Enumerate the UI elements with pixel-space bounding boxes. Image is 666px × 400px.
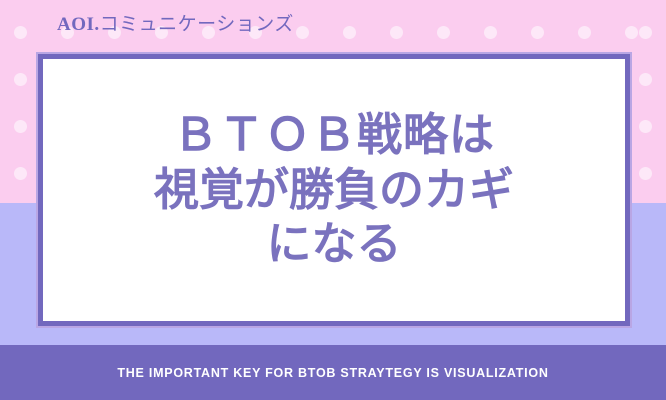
headline-line-1: ＢＴＯＢ戦略は [154, 108, 514, 163]
headline-card: ＢＴＯＢ戦略は 視覚が勝負のカギ になる [38, 54, 630, 326]
headline-line-2: 視覚が勝負のカギ [154, 163, 514, 218]
footer-caption: THE IMPORTANT KEY FOR BTOB STRAYTEGY IS … [0, 345, 666, 400]
promo-banner: AOI.コミュニケーションズ ＢＴＯＢ戦略は 視覚が勝負のカギ になる THE … [0, 0, 666, 400]
brand-logo-mark: AOI. [57, 14, 100, 35]
headline-card-inner: ＢＴＯＢ戦略は 視覚が勝負のカギ になる [43, 59, 625, 321]
headline-line-3: になる [154, 217, 514, 272]
brand-logo-name: コミュニケーションズ [100, 14, 294, 35]
headline: ＢＴＯＢ戦略は 視覚が勝負のカギ になる [154, 108, 514, 273]
brand-logo: AOI.コミュニケーションズ [57, 15, 294, 34]
